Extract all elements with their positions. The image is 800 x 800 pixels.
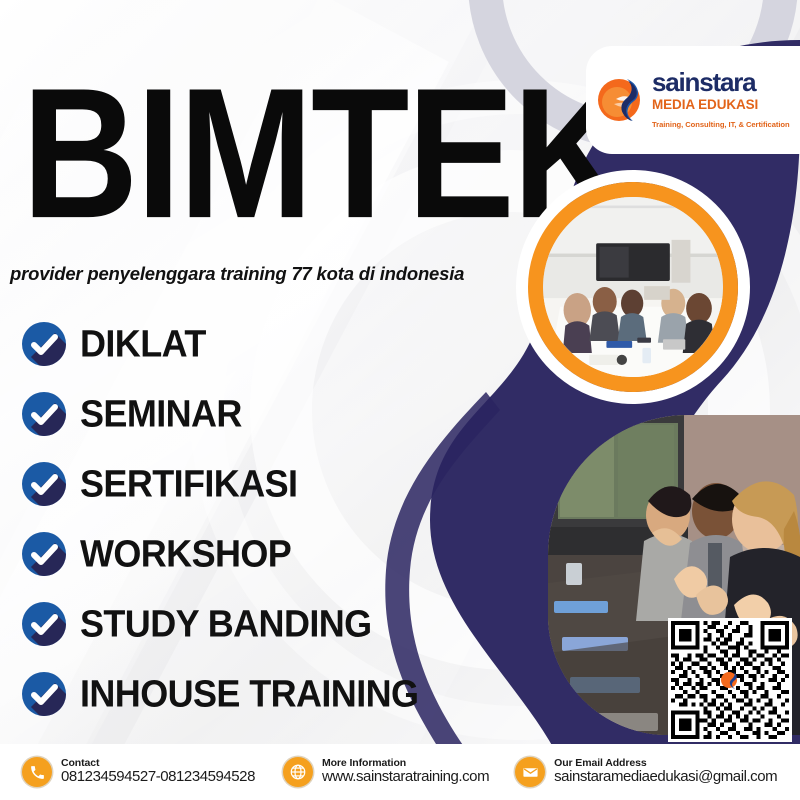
footer-website-block: More Information www.sainstaratraining.c… bbox=[283, 757, 489, 787]
page-subtitle: provider penyelenggara training 77 kota … bbox=[10, 263, 464, 285]
service-label: WORKSHOP bbox=[80, 532, 291, 577]
footer-website-value[interactable]: www.sainstaratraining.com bbox=[322, 769, 489, 786]
list-item: STUDY BANDING bbox=[22, 590, 418, 658]
services-list: DIKLAT SEMINAR SERTIFIKASI bbox=[22, 310, 418, 730]
brand-logo-text: sainstara MEDIA EDUKASI Training, Consul… bbox=[652, 69, 800, 132]
list-item: INHOUSE TRAINING bbox=[22, 660, 418, 728]
footer-contact-value[interactable]: 081234594527-081234594528 bbox=[61, 769, 255, 786]
brand-tagline: Training, Consulting, IT, & Certificatio… bbox=[652, 120, 790, 129]
service-label: SERTIFIKASI bbox=[80, 462, 297, 507]
footer-contact-block: Contact 081234594527-081234594528 bbox=[22, 757, 255, 787]
list-item: DIKLAT bbox=[22, 310, 418, 378]
list-item: SEMINAR bbox=[22, 380, 418, 448]
check-circle-icon bbox=[22, 532, 66, 576]
list-item: SERTIFIKASI bbox=[22, 450, 418, 518]
check-circle-icon bbox=[22, 322, 66, 366]
footer-email-block: Our Email Address sainstaramediaedukasi@… bbox=[515, 757, 777, 787]
sainstara-logo-icon bbox=[594, 73, 648, 127]
envelope-icon bbox=[515, 757, 545, 787]
brand-subtitle: MEDIA EDUKASI bbox=[652, 97, 758, 112]
service-label: INHOUSE TRAINING bbox=[80, 672, 418, 717]
check-circle-icon bbox=[22, 392, 66, 436]
page-title: BIMTEK bbox=[22, 78, 627, 230]
footer-contact-bar: Contact 081234594527-081234594528 More I… bbox=[0, 744, 800, 800]
check-circle-icon bbox=[22, 602, 66, 646]
qr-center-logo-icon bbox=[719, 669, 741, 691]
brand-logo: sainstara MEDIA EDUKASI Training, Consul… bbox=[586, 46, 800, 154]
service-label: SEMINAR bbox=[80, 392, 242, 437]
poster-canvas: BIMTEK provider penyelenggara training 7… bbox=[0, 0, 800, 800]
globe-icon bbox=[283, 757, 313, 787]
footer-email-value[interactable]: sainstaramediaedukasi@gmail.com bbox=[554, 769, 777, 786]
service-label: STUDY BANDING bbox=[80, 602, 372, 647]
phone-icon bbox=[22, 757, 52, 787]
meeting-room-photo bbox=[528, 182, 738, 392]
brand-name: sainstara bbox=[652, 67, 755, 97]
list-item: WORKSHOP bbox=[22, 520, 418, 588]
check-circle-icon bbox=[22, 672, 66, 716]
service-label: DIKLAT bbox=[80, 322, 206, 367]
qr-code[interactable] bbox=[668, 618, 792, 742]
check-circle-icon bbox=[22, 462, 66, 506]
